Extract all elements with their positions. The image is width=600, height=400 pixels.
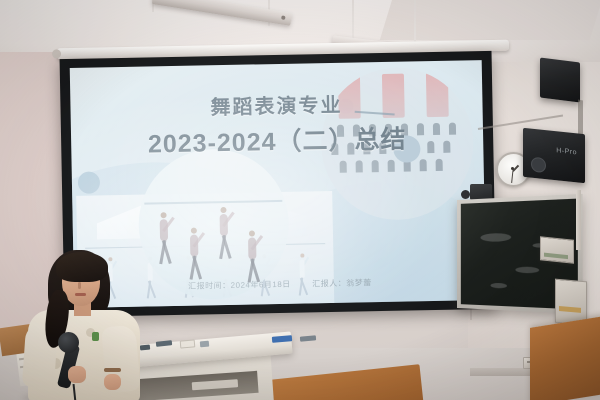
slide-title-block: 舞蹈表演专业 2023-2024（二）总结: [70, 86, 483, 162]
dancer-figure: [245, 230, 260, 282]
dancer-figure: [216, 207, 231, 259]
desk-item: [180, 339, 196, 348]
classroom-presentation-photo: 舞蹈表演专业 2023-2024（二）总结 汇报时间：2024年6月18日 汇报…: [0, 0, 600, 400]
presenter-other-hand: [104, 374, 121, 390]
presenter-mouth: [75, 293, 86, 296]
name-badge: [92, 332, 99, 341]
hair-front: [56, 252, 108, 282]
microphone-icon: [58, 332, 79, 353]
desk-item: [200, 341, 209, 348]
wooden-desk-right: [530, 316, 600, 400]
speaker-brand-label: H-Pro: [556, 147, 577, 156]
wall-speaker-main: H-Pro: [523, 128, 585, 184]
presenter-hand-holding-mic: [68, 366, 86, 383]
dancer-figure: [157, 212, 172, 264]
slide-title-line1: 舞蹈表演专业: [70, 86, 482, 123]
mirror-barre: [144, 200, 282, 205]
ceiling-beam: [380, 0, 600, 40]
presenter-nose: [78, 282, 81, 289]
presenter-bracelet: [104, 368, 121, 372]
wall-box-upper: [540, 236, 574, 264]
presenter-label: 汇报人：: [312, 279, 346, 289]
presenter-value: 翁梦蕾: [346, 278, 372, 287]
clock-minute-hand: [511, 171, 514, 183]
report-time-label: 汇报时间：: [188, 281, 231, 291]
group-row: [322, 158, 474, 174]
dancer-figure: [187, 227, 202, 279]
presenter: [18, 248, 158, 400]
wall-conduit: [576, 190, 581, 250]
wall-box-lower: [555, 279, 587, 326]
light-suspension-rod: [352, 0, 354, 42]
wall-speaker-upper: [540, 58, 580, 103]
clock-center-pin: [511, 167, 514, 170]
report-time-value: 2024年6月18日: [231, 280, 291, 290]
